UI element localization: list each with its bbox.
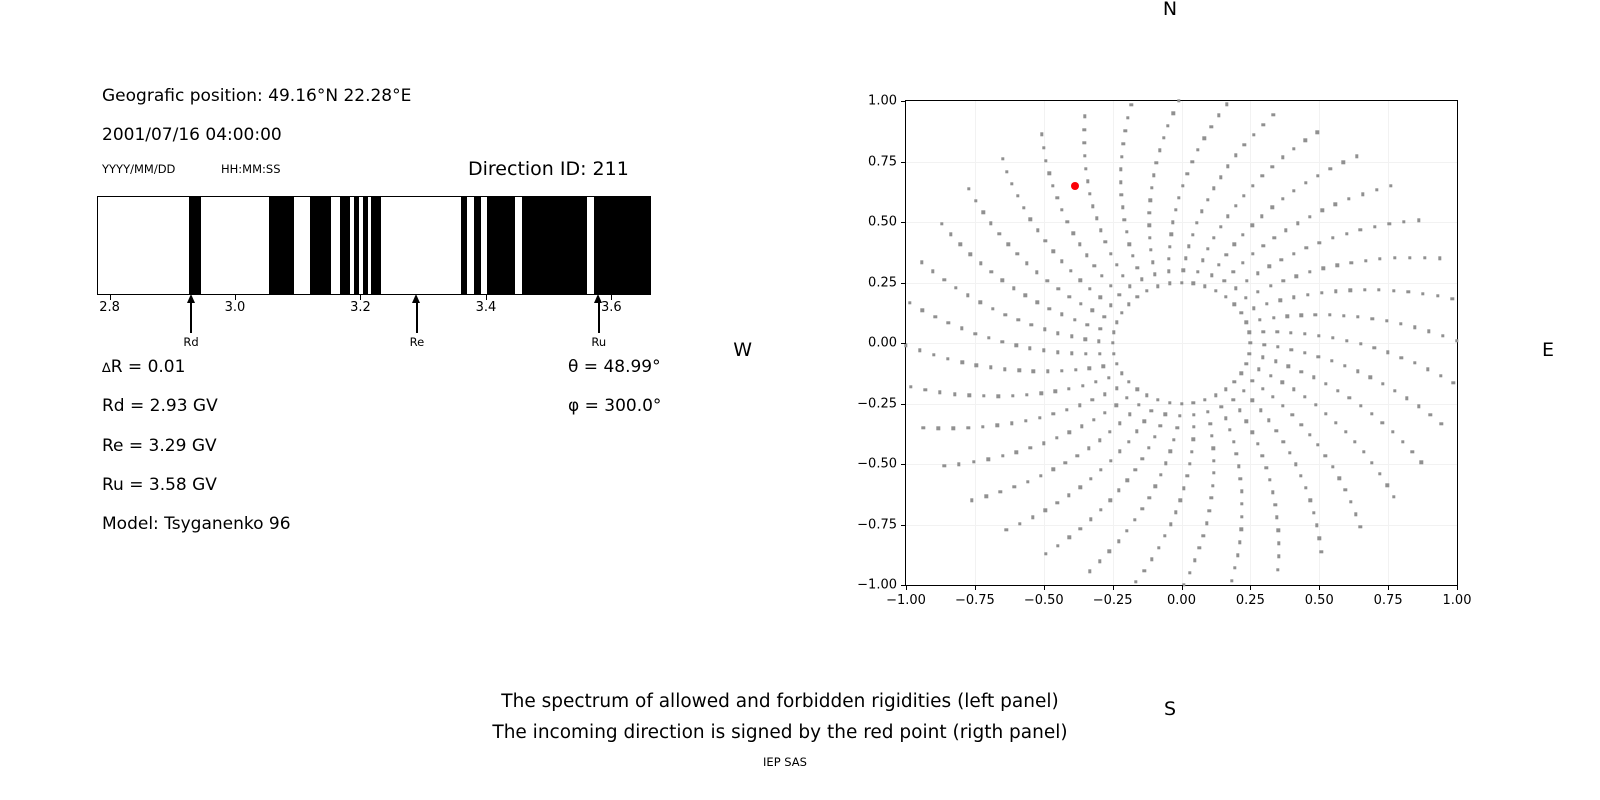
direction-dot bbox=[1032, 369, 1035, 372]
direction-dot bbox=[1292, 147, 1295, 150]
direction-dot bbox=[1107, 376, 1110, 379]
direction-dot bbox=[1102, 365, 1105, 368]
direction-dot bbox=[1322, 267, 1325, 270]
direction-dot bbox=[1393, 389, 1396, 392]
direction-dot bbox=[1017, 318, 1020, 321]
ru-value: Ru = 3.58 GV bbox=[102, 475, 217, 495]
polar-x-tick bbox=[1319, 585, 1320, 590]
direction-dot bbox=[1012, 485, 1015, 488]
direction-dot bbox=[1234, 287, 1237, 290]
direction-dot bbox=[1115, 321, 1118, 324]
direction-dot bbox=[1115, 387, 1118, 390]
direction-dot bbox=[1269, 374, 1272, 377]
direction-dot bbox=[1245, 321, 1248, 324]
direction-dot bbox=[1060, 313, 1063, 316]
direction-dot bbox=[1391, 430, 1394, 433]
direction-dot bbox=[1348, 396, 1351, 399]
direction-dot bbox=[1088, 569, 1091, 572]
direction-dot bbox=[987, 458, 990, 461]
direction-dot bbox=[1271, 490, 1274, 493]
direction-dot bbox=[1065, 408, 1068, 411]
direction-dot bbox=[1289, 331, 1292, 334]
direction-dot bbox=[970, 498, 973, 501]
direction-dot bbox=[1251, 184, 1254, 187]
direction-dot bbox=[1056, 544, 1059, 547]
direction-dot bbox=[982, 394, 985, 397]
direction-dot bbox=[1329, 167, 1332, 170]
polar-y-tick-label: 0.25 bbox=[868, 275, 897, 290]
direction-dot bbox=[1028, 346, 1031, 349]
direction-dot bbox=[1271, 395, 1274, 398]
direction-dot bbox=[960, 327, 963, 330]
direction-dot bbox=[1399, 322, 1402, 325]
direction-dot bbox=[1150, 186, 1153, 189]
direction-dot bbox=[1256, 290, 1259, 293]
direction-dot bbox=[1233, 243, 1236, 246]
direction-dot bbox=[1262, 244, 1265, 247]
direction-dot bbox=[1015, 451, 1018, 454]
forbidden-band bbox=[354, 197, 359, 294]
direction-dot bbox=[1291, 413, 1294, 416]
direction-dot bbox=[1248, 352, 1251, 355]
direction-dot bbox=[1270, 165, 1273, 168]
direction-dot bbox=[1080, 425, 1083, 428]
direction-dot bbox=[1328, 313, 1331, 316]
direction-dot bbox=[1303, 351, 1306, 354]
direction-dot bbox=[1312, 511, 1315, 514]
direction-dot bbox=[1099, 229, 1102, 232]
direction-dot bbox=[978, 300, 981, 303]
direction-dot bbox=[1074, 368, 1077, 371]
direction-dot bbox=[918, 349, 921, 352]
incoming-direction-point[interactable] bbox=[1071, 182, 1079, 190]
direction-dot bbox=[1237, 465, 1240, 468]
direction-dot bbox=[1373, 225, 1376, 228]
direction-dot bbox=[973, 332, 976, 335]
direction-dot bbox=[1224, 295, 1227, 298]
direction-dot bbox=[1245, 420, 1248, 423]
direction-dot bbox=[1057, 287, 1060, 290]
direction-dot bbox=[1206, 410, 1209, 413]
direction-dot bbox=[1145, 289, 1148, 292]
direction-dot bbox=[1338, 477, 1341, 480]
direction-dot bbox=[1120, 155, 1123, 158]
direction-dot bbox=[1178, 414, 1181, 417]
caption-line-2: The incoming direction is signed by the … bbox=[0, 717, 1560, 748]
direction-dot bbox=[1239, 477, 1242, 480]
direction-dot bbox=[1137, 403, 1140, 406]
direction-dot bbox=[1428, 413, 1431, 416]
direction-dot bbox=[1259, 408, 1262, 411]
delta-r-text: R = 0.01 bbox=[111, 357, 186, 377]
direction-dot bbox=[1025, 262, 1028, 265]
direction-dot bbox=[1164, 412, 1167, 415]
direction-dot bbox=[1025, 393, 1028, 396]
polar-x-tick-label: −1.00 bbox=[886, 593, 926, 608]
direction-dot bbox=[1154, 485, 1157, 488]
direction-dot bbox=[1211, 484, 1214, 487]
geographic-position-label: Geografic position: 49.16°N 22.28°E bbox=[102, 86, 411, 106]
direction-dot bbox=[1124, 129, 1127, 132]
direction-dot bbox=[982, 211, 985, 214]
polar-x-tick bbox=[1457, 585, 1458, 590]
direction-dot bbox=[1239, 528, 1242, 531]
direction-dot bbox=[1143, 419, 1146, 422]
direction-dot bbox=[1156, 284, 1159, 287]
direction-dot bbox=[1060, 260, 1063, 263]
polar-x-tick bbox=[1113, 585, 1114, 590]
direction-dot bbox=[996, 424, 999, 427]
direction-dot bbox=[1052, 468, 1055, 471]
direction-dot bbox=[1042, 349, 1045, 352]
direction-dot bbox=[1256, 442, 1259, 445]
direction-dot bbox=[1400, 356, 1403, 359]
direction-dot bbox=[1148, 236, 1151, 239]
polar-y-tick-label: −0.25 bbox=[857, 396, 897, 411]
direction-dot bbox=[1217, 263, 1220, 266]
direction-dot bbox=[1272, 113, 1275, 116]
direction-dot bbox=[1240, 515, 1243, 518]
theta-value: θ = 48.99° bbox=[568, 357, 661, 377]
polar-x-tick-label: 0.75 bbox=[1374, 593, 1403, 608]
direction-dot bbox=[1095, 217, 1098, 220]
direction-dot bbox=[1159, 424, 1162, 427]
direction-dot bbox=[1359, 404, 1362, 407]
polar-y-tick-label: 0.50 bbox=[868, 215, 897, 230]
direction-dot bbox=[1070, 335, 1073, 338]
direction-dot bbox=[1001, 279, 1004, 282]
polar-x-tick-label: 1.00 bbox=[1443, 593, 1472, 608]
direction-dot bbox=[1044, 159, 1047, 162]
direction-dot bbox=[1127, 302, 1130, 305]
direction-dot bbox=[1275, 516, 1278, 519]
direction-dot bbox=[1308, 433, 1311, 436]
direction-dot bbox=[921, 309, 924, 312]
spectrum-bar bbox=[97, 196, 651, 295]
direction-dot bbox=[1451, 297, 1454, 300]
direction-dot bbox=[1392, 289, 1395, 292]
direction-dot bbox=[1274, 503, 1277, 506]
direction-dot bbox=[1177, 196, 1180, 199]
direction-dot bbox=[1133, 468, 1136, 471]
direction-dot bbox=[1388, 222, 1391, 225]
direction-dot bbox=[909, 385, 912, 388]
forbidden-band bbox=[269, 197, 295, 294]
direction-dot bbox=[1369, 376, 1372, 379]
direction-dot bbox=[1300, 423, 1303, 426]
direction-dot bbox=[1043, 509, 1046, 512]
direction-dot bbox=[1334, 421, 1337, 424]
direction-dot bbox=[1118, 450, 1121, 453]
direction-dot bbox=[1441, 334, 1444, 337]
direction-dot bbox=[1363, 288, 1366, 291]
direction-dot bbox=[1279, 299, 1282, 302]
direction-dot bbox=[1115, 404, 1118, 407]
direction-dot bbox=[967, 426, 970, 429]
direction-dot bbox=[1126, 479, 1129, 482]
direction-dot bbox=[1231, 398, 1234, 401]
direction-dot bbox=[1306, 293, 1309, 296]
direction-dot bbox=[947, 321, 950, 324]
spectrum-x-tick-label: 2.8 bbox=[99, 300, 120, 315]
direction-dot bbox=[1145, 394, 1148, 397]
direction-dot bbox=[1210, 125, 1213, 128]
direction-dot bbox=[1314, 313, 1317, 316]
direction-dot bbox=[1108, 430, 1111, 433]
direction-dot bbox=[1324, 382, 1327, 385]
direction-dot bbox=[1007, 242, 1010, 245]
direction-dot bbox=[1040, 392, 1043, 395]
compass-east-label: E bbox=[1542, 339, 1554, 361]
direction-dot bbox=[1347, 197, 1350, 200]
polar-x-tick-label: −0.75 bbox=[955, 593, 995, 608]
direction-dot bbox=[1275, 330, 1278, 333]
direction-dot bbox=[1402, 220, 1405, 223]
direction-dot bbox=[1120, 372, 1123, 375]
direction-dot bbox=[1112, 331, 1115, 334]
direction-dot bbox=[1280, 258, 1283, 261]
direction-dot bbox=[1056, 331, 1059, 334]
direction-dot bbox=[1174, 511, 1177, 514]
direction-dot bbox=[1181, 184, 1184, 187]
direction-dot bbox=[1251, 252, 1254, 255]
direction-dot bbox=[1393, 256, 1396, 259]
direction-dot bbox=[1038, 416, 1041, 419]
direction-dot bbox=[1112, 352, 1115, 355]
direction-dot bbox=[1265, 302, 1268, 305]
direction-dot bbox=[1068, 536, 1071, 539]
direction-dot bbox=[1239, 372, 1242, 375]
direction-dot bbox=[1084, 167, 1087, 170]
direction-dot bbox=[1085, 254, 1088, 257]
polar-x-tick-label: 0.00 bbox=[1167, 593, 1196, 608]
direction-dot bbox=[1046, 279, 1049, 282]
direction-dot bbox=[1206, 247, 1209, 250]
direction-dot bbox=[1331, 465, 1334, 468]
direction-dot bbox=[1001, 340, 1004, 343]
direction-dot bbox=[1223, 279, 1226, 282]
direction-dot bbox=[1136, 295, 1139, 298]
polar-x-tick-label: 0.50 bbox=[1305, 593, 1334, 608]
direction-dot bbox=[1439, 374, 1442, 377]
direction-dot bbox=[1148, 211, 1151, 214]
direction-dot bbox=[997, 394, 1000, 397]
direction-dot bbox=[1214, 289, 1217, 292]
direction-dot bbox=[1371, 317, 1374, 320]
direction-dot bbox=[1121, 206, 1124, 209]
direction-dot bbox=[1257, 368, 1260, 371]
direction-dot bbox=[1361, 192, 1364, 195]
direction-dot bbox=[1169, 450, 1172, 453]
direction-id-label: Direction ID: 211 bbox=[468, 158, 629, 180]
direction-dot bbox=[1407, 290, 1410, 293]
direction-dot bbox=[1042, 442, 1045, 445]
direction-dot bbox=[1043, 328, 1046, 331]
direction-dot bbox=[952, 427, 955, 430]
forbidden-band bbox=[594, 197, 650, 294]
direction-dot bbox=[1108, 550, 1111, 553]
direction-dot bbox=[1303, 139, 1306, 142]
direction-dot bbox=[1055, 196, 1058, 199]
direction-dot bbox=[1299, 370, 1302, 373]
direction-dot bbox=[1056, 501, 1059, 504]
direction-dot bbox=[1413, 361, 1416, 364]
direction-dot bbox=[1331, 236, 1334, 239]
direction-dot bbox=[1153, 273, 1156, 276]
direction-dot bbox=[1292, 388, 1295, 391]
direction-dot bbox=[1282, 279, 1285, 282]
direction-dot bbox=[1281, 404, 1284, 407]
direction-dot bbox=[1158, 149, 1161, 152]
polar-x-tick bbox=[1388, 585, 1389, 590]
direction-dot bbox=[1318, 537, 1321, 540]
direction-dot bbox=[1244, 296, 1247, 299]
direction-dot bbox=[1172, 438, 1175, 441]
forbidden-band bbox=[487, 197, 515, 294]
direction-dot bbox=[1410, 450, 1413, 453]
datetime-label: 2001/07/16 04:00:00 bbox=[102, 125, 282, 145]
direction-dot bbox=[1277, 542, 1280, 545]
polar-y-tick bbox=[901, 162, 906, 163]
direction-dot bbox=[1219, 405, 1222, 408]
direction-dot bbox=[1261, 174, 1264, 177]
direction-dot bbox=[1030, 323, 1033, 326]
direction-dot bbox=[1136, 388, 1139, 391]
direction-dot bbox=[1151, 260, 1154, 263]
direction-dot bbox=[1282, 440, 1285, 443]
direction-dot bbox=[1040, 133, 1043, 136]
direction-dot bbox=[1362, 450, 1365, 453]
direction-dot bbox=[1314, 403, 1317, 406]
direction-dot bbox=[1276, 345, 1279, 348]
direction-dot bbox=[1103, 393, 1106, 396]
direction-dot bbox=[1108, 499, 1111, 502]
direction-dot bbox=[1312, 376, 1315, 379]
direction-dot bbox=[1131, 254, 1134, 257]
direction-dot bbox=[949, 233, 952, 236]
direction-dot bbox=[1233, 566, 1236, 569]
direction-dot bbox=[1039, 474, 1042, 477]
direction-dot bbox=[1001, 454, 1004, 457]
forbidden-band bbox=[340, 197, 349, 294]
direction-dot bbox=[1364, 259, 1367, 262]
forbidden-band bbox=[474, 197, 482, 294]
direction-dot bbox=[1355, 155, 1358, 158]
direction-dot bbox=[1003, 368, 1006, 371]
direction-dot bbox=[1281, 156, 1284, 159]
direction-dot bbox=[1004, 313, 1007, 316]
direction-dot bbox=[1308, 270, 1311, 273]
direction-dot bbox=[1344, 430, 1347, 433]
direction-dot bbox=[1385, 319, 1388, 322]
direction-dot bbox=[1024, 419, 1027, 422]
direction-dot bbox=[1348, 289, 1351, 292]
gridline-horizontal bbox=[906, 525, 1457, 526]
direction-dot bbox=[1238, 409, 1241, 412]
direction-dot bbox=[1135, 266, 1138, 269]
direction-dot bbox=[1073, 318, 1076, 321]
polar-x-tick bbox=[1182, 585, 1183, 590]
direction-dot bbox=[1370, 461, 1373, 464]
direction-dot bbox=[1195, 221, 1198, 224]
direction-dot bbox=[1125, 396, 1128, 399]
direction-dot bbox=[1128, 242, 1131, 245]
direction-dot bbox=[1193, 559, 1196, 562]
direction-dot bbox=[1203, 398, 1206, 401]
direction-dot bbox=[1356, 315, 1359, 318]
compass-north-label: N bbox=[1163, 0, 1177, 20]
direction-dot bbox=[1317, 355, 1320, 358]
direction-dot bbox=[1212, 187, 1215, 190]
direction-dot bbox=[1186, 474, 1189, 477]
direction-dot bbox=[1022, 206, 1025, 209]
direction-dot bbox=[1226, 164, 1229, 167]
direction-dot bbox=[966, 293, 969, 296]
direction-dot bbox=[1029, 218, 1032, 221]
direction-dot bbox=[1141, 507, 1144, 510]
direction-dot bbox=[1250, 379, 1253, 382]
direction-dot bbox=[1324, 454, 1327, 457]
right-panel: −1.00−0.75−0.50−0.250.000.250.500.751.00… bbox=[820, 40, 1520, 660]
direction-dot bbox=[1304, 486, 1307, 489]
direction-dot bbox=[1426, 367, 1429, 370]
re-value: Re = 3.29 GV bbox=[102, 436, 217, 456]
direction-dot bbox=[1179, 499, 1182, 502]
polar-y-tick bbox=[901, 283, 906, 284]
direction-dot bbox=[1234, 154, 1237, 157]
direction-dot bbox=[1190, 450, 1193, 453]
direction-dot bbox=[1142, 569, 1145, 572]
direction-dot bbox=[1172, 112, 1175, 115]
direction-dot bbox=[1408, 256, 1411, 259]
direction-dot bbox=[1234, 204, 1237, 207]
direction-dot bbox=[959, 243, 962, 246]
polar-x-tick-label: 0.25 bbox=[1236, 593, 1265, 608]
direction-dot bbox=[1233, 380, 1236, 383]
direction-dot bbox=[1188, 462, 1191, 465]
direction-dot bbox=[1068, 431, 1071, 434]
direction-dot bbox=[1275, 429, 1278, 432]
direction-dot bbox=[969, 252, 972, 255]
direction-dot bbox=[1331, 336, 1334, 339]
direction-dot bbox=[1168, 282, 1171, 285]
direction-dot bbox=[1334, 203, 1337, 206]
direction-dot bbox=[1261, 454, 1264, 457]
direction-dot bbox=[1252, 306, 1255, 309]
direction-dot bbox=[1192, 401, 1195, 404]
direction-dot bbox=[1109, 284, 1112, 287]
direction-dot bbox=[1292, 296, 1295, 299]
direction-dot bbox=[1198, 546, 1201, 549]
direction-dot bbox=[1436, 294, 1439, 297]
direction-dot bbox=[1277, 529, 1280, 532]
spectrum-x-tick-label: 3.6 bbox=[601, 300, 622, 315]
direction-dot bbox=[1036, 229, 1039, 232]
polar-x-tick bbox=[1044, 585, 1045, 590]
direction-dot bbox=[1405, 397, 1408, 400]
direction-dot bbox=[1083, 154, 1086, 157]
gridline-horizontal bbox=[906, 343, 1457, 344]
direction-dot bbox=[1452, 381, 1455, 384]
polar-y-tick bbox=[901, 222, 906, 223]
direction-dot bbox=[1083, 337, 1086, 340]
direction-dot bbox=[1163, 534, 1166, 537]
direction-dot bbox=[1381, 382, 1384, 385]
direction-dot bbox=[1120, 193, 1123, 196]
direction-dot bbox=[1284, 229, 1287, 232]
polar-y-tick bbox=[901, 101, 906, 102]
direction-dot bbox=[1308, 215, 1311, 218]
